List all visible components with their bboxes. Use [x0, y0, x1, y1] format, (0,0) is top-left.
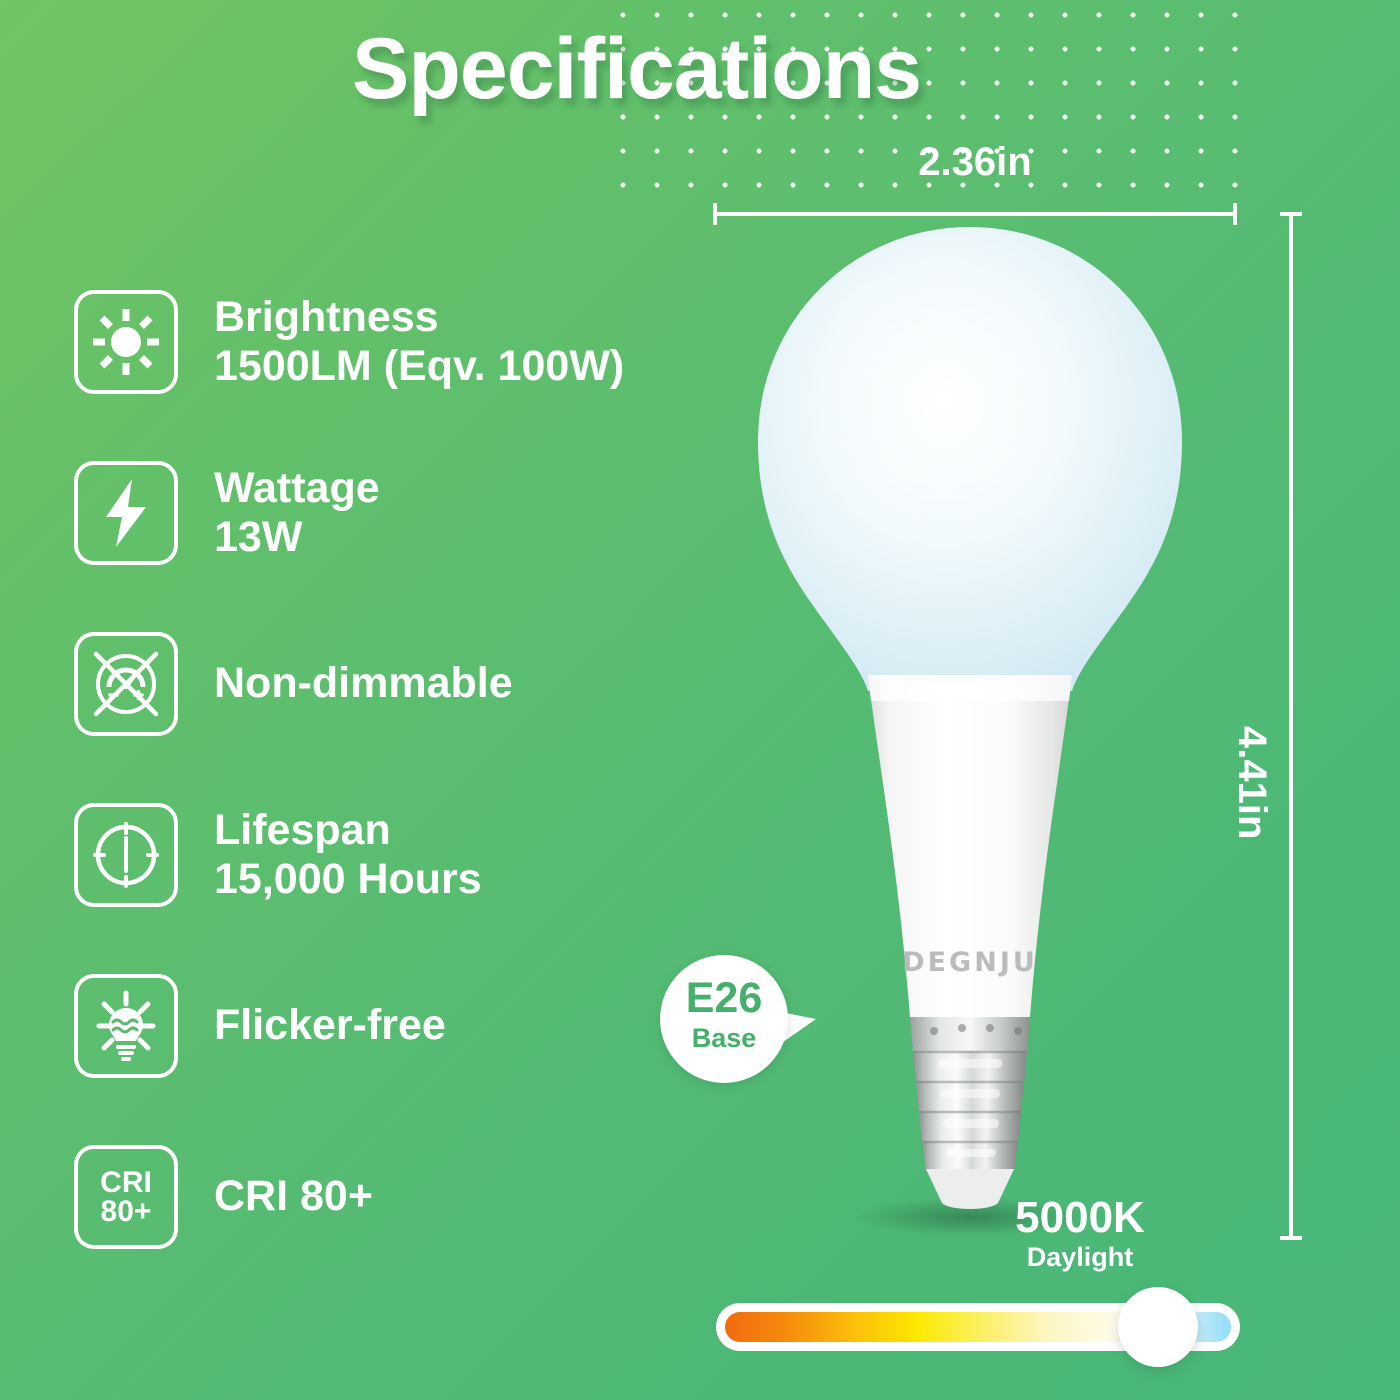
height-dimension-bar — [1289, 212, 1293, 1240]
spec-value-brightness: 1500LM (Eqv. 100W) — [214, 342, 624, 391]
wattage-bolt-icon — [74, 461, 178, 565]
spec-row-flicker-free: Flicker-free — [74, 972, 754, 1080]
specifications-infographic: Specifications — [0, 0, 1400, 1400]
cri-icon: CRI 80+ — [74, 1145, 178, 1249]
led-bulb-image: DEGNJU — [690, 205, 1250, 1250]
spec-text-wattage: Wattage 13W — [214, 464, 380, 563]
height-dimension-line — [1280, 212, 1302, 1240]
e26-base-badge: E26 Base — [660, 955, 830, 1090]
spec-label-brightness: Brightness — [214, 293, 439, 341]
cri-icon-glyph: CRI 80+ — [100, 1168, 152, 1227]
color-temperature-slider[interactable] — [716, 1303, 1240, 1351]
badge-caption: Base — [660, 1025, 788, 1052]
cri-icon-line2: 80+ — [100, 1197, 152, 1226]
slider-thumb[interactable] — [1118, 1287, 1198, 1367]
spec-text-cri: CRI 80+ — [214, 1172, 373, 1221]
brightness-sun-icon — [74, 290, 178, 394]
flicker-free-bulb-icon — [74, 974, 178, 1078]
spec-row-cri: CRI 80+ CRI 80+ — [74, 1143, 754, 1251]
spec-list: Brightness 1500LM (Eqv. 100W) Wattage 13… — [74, 288, 754, 1251]
badge-text: E26 Base — [660, 977, 788, 1052]
height-dimension-cap-bottom — [1280, 1236, 1302, 1240]
bulb-body-rim — [868, 675, 1072, 701]
bulb-glass — [758, 227, 1182, 691]
width-dimension-label: 2.36in — [713, 140, 1237, 185]
spec-label-wattage: Wattage — [214, 464, 380, 512]
lifespan-clock-icon — [74, 803, 178, 907]
kelvin-value: 5000K — [930, 1195, 1230, 1241]
spec-label-lifespan: Lifespan — [214, 806, 391, 854]
spec-row-lifespan: Lifespan 15,000 Hours — [74, 801, 754, 909]
spec-label-non-dimmable: Non-dimmable — [214, 659, 513, 707]
spec-value-lifespan: 15,000 Hours — [214, 855, 482, 904]
kelvin-name: Daylight — [930, 1241, 1230, 1273]
badge-code: E26 — [660, 977, 788, 1020]
page-title: Specifications — [352, 24, 921, 114]
non-dimmable-icon — [74, 632, 178, 736]
spec-text-flicker-free: Flicker-free — [214, 1001, 446, 1050]
height-dimension-cap-top — [1280, 212, 1302, 216]
spec-text-lifespan: Lifespan 15,000 Hours — [214, 806, 482, 905]
spec-row-wattage: Wattage 13W — [74, 459, 754, 567]
spec-text-non-dimmable: Non-dimmable — [214, 659, 513, 708]
spec-label-flicker-free: Flicker-free — [214, 1001, 446, 1049]
bulb-screw-threads — [913, 1051, 1027, 1171]
spec-row-non-dimmable: Non-dimmable — [74, 630, 754, 738]
spec-row-brightness: Brightness 1500LM (Eqv. 100W) — [74, 288, 754, 396]
cri-icon-line1: CRI — [100, 1168, 152, 1197]
spec-label-cri: CRI 80+ — [214, 1172, 373, 1220]
bulb-base-collar — [910, 1017, 1030, 1053]
spec-text-brightness: Brightness 1500LM (Eqv. 100W) — [214, 293, 624, 392]
color-temperature-label: 5000K Daylight — [930, 1195, 1230, 1274]
spec-value-wattage: 13W — [214, 513, 380, 562]
